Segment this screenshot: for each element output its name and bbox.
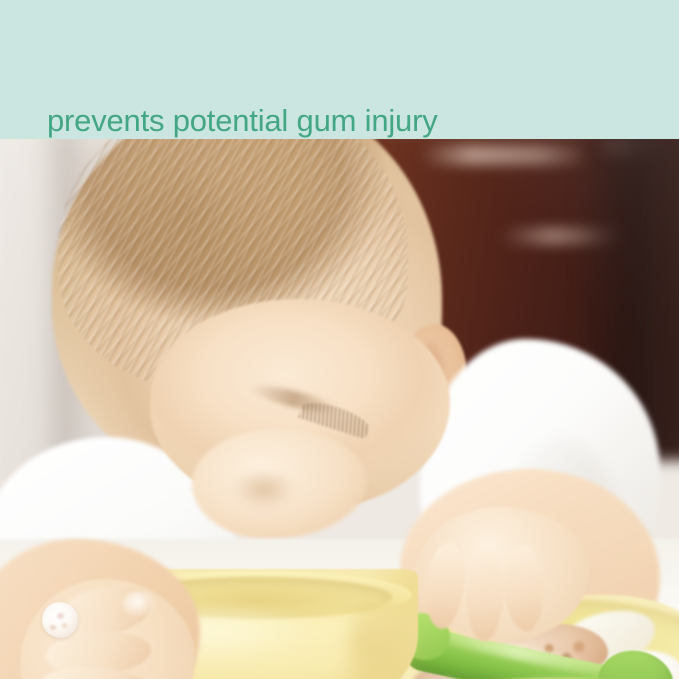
puff-snack-speck-1	[57, 613, 64, 619]
product-feature-image: prevents potential gum injury & protects…	[0, 0, 679, 679]
baby-fingernail-1	[122, 591, 156, 617]
banner-headline: prevents potential gum injury & protects…	[47, 28, 647, 139]
puff-snack	[42, 602, 78, 638]
chair-slat-highlight-top	[420, 145, 590, 165]
puff-snack-speck-2	[50, 625, 56, 630]
banner-headline-line-1: prevents potential gum injury	[47, 102, 647, 139]
feature-banner: prevents potential gum injury & protects…	[0, 0, 679, 139]
lifestyle-photo	[0, 139, 679, 679]
puff-snack-speck-3	[62, 623, 67, 628]
baby-nose-shadow	[232, 469, 296, 509]
